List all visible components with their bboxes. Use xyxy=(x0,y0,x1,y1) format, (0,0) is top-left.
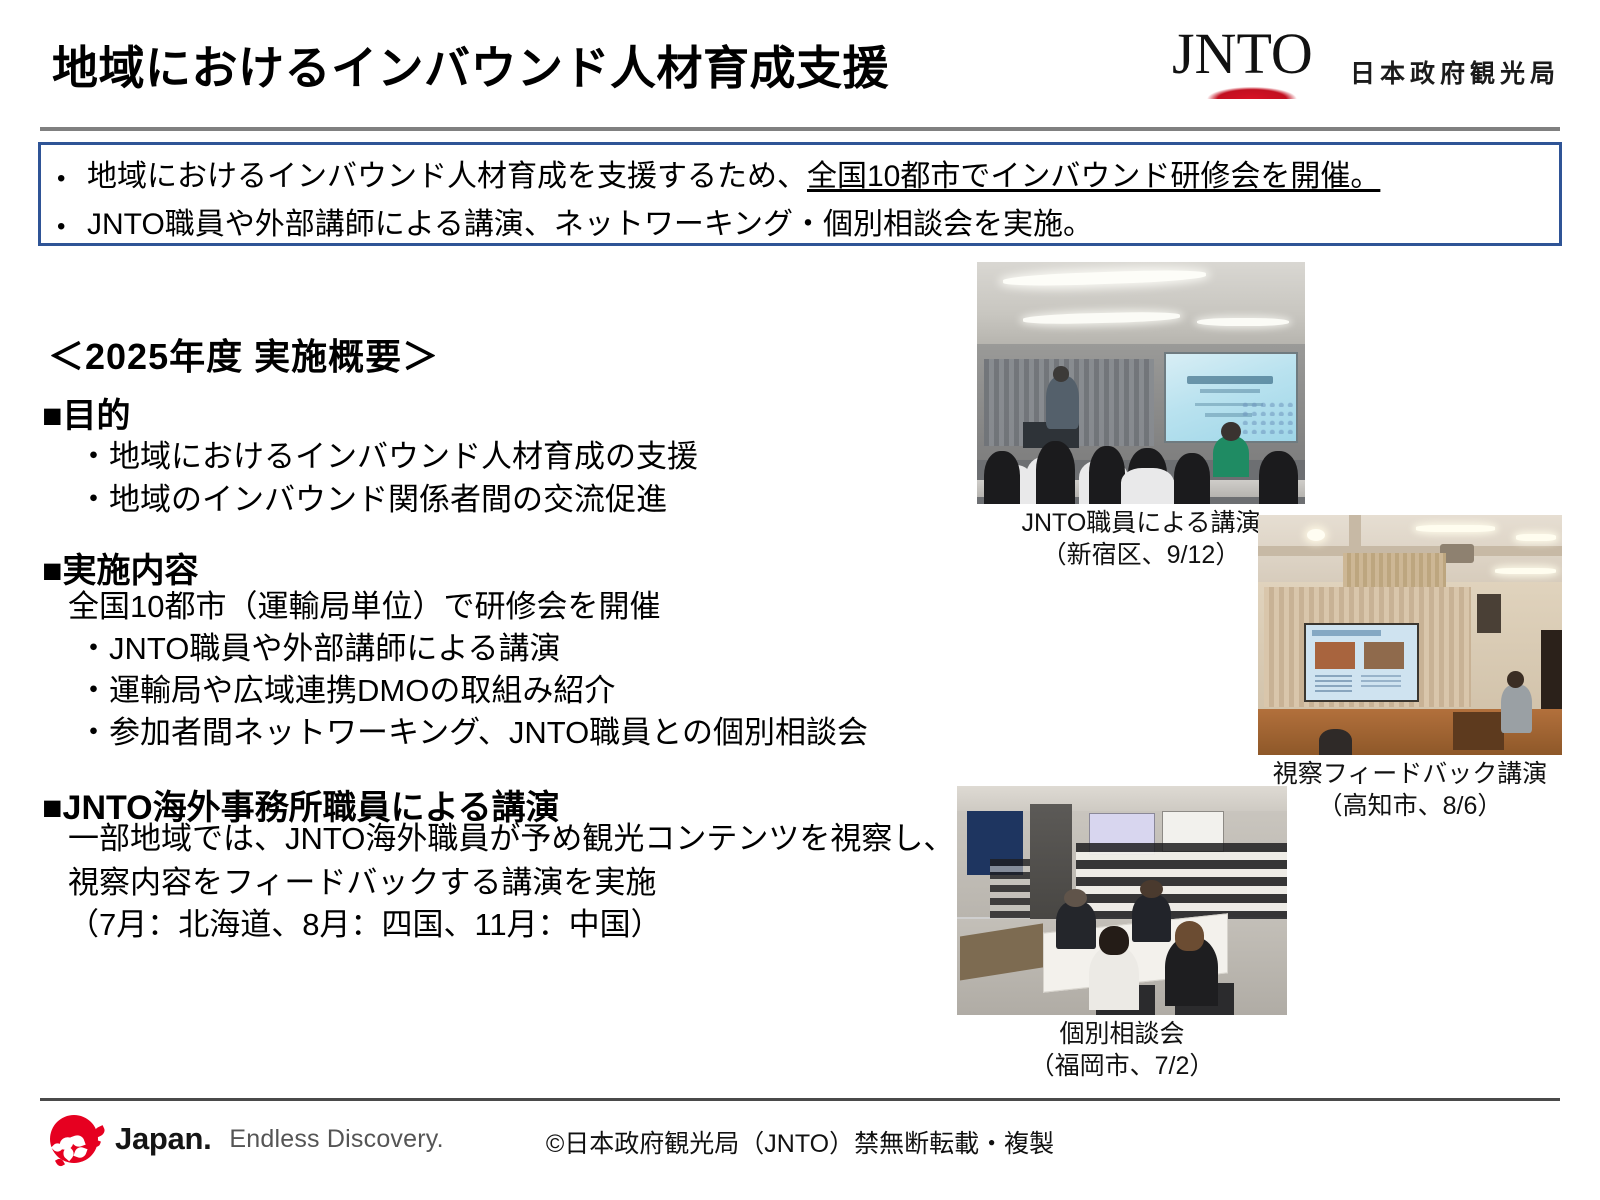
photo2-slide-header xyxy=(1312,630,1381,636)
photo2-lectern xyxy=(1453,712,1505,750)
jnto-logo-mark: JNTO xyxy=(1172,24,1324,110)
slide-root: 地域におけるインバウンド人材育成支援 JNTO 日本政府観光局 • 地域における… xyxy=(0,0,1600,1200)
photo2-slide-image xyxy=(1315,642,1355,669)
consultation-caption: 個別相談会 （福岡市、7/2） xyxy=(922,1018,1322,1082)
photo1-attendee xyxy=(984,451,1020,504)
bullet-icon: • xyxy=(57,204,87,250)
photo2-doorway xyxy=(1541,630,1562,716)
photo1-slide-title-bar xyxy=(1187,376,1273,384)
content-line-3: ・運輸局や広域連携DMOの取組み紹介 xyxy=(78,672,615,711)
photo1-attendee xyxy=(1121,468,1173,504)
photo3-participant-head xyxy=(1099,926,1129,956)
photo1-attendee xyxy=(1089,446,1125,504)
photo3-participant-head xyxy=(1175,921,1205,951)
summary-line-2: • JNTO職員や外部講師による講演、ネットワーキング・個別相談会を実施。 xyxy=(57,202,1543,250)
overseas-line-3: （7月：北海道、8月：四国、11月：中国） xyxy=(68,906,662,945)
fiscal-year-heading: ＜2025年度 実施概要＞ xyxy=(48,328,439,380)
photo2-tube-light xyxy=(1516,534,1556,541)
photo1-attendee-green xyxy=(1213,436,1249,477)
photo3-participant xyxy=(1056,901,1096,949)
content-line-4: ・参加者間ネットワーキング、JNTO職員との個別相談会 xyxy=(78,714,868,753)
photo1-ceiling-light xyxy=(1197,318,1289,326)
photo1-attendee xyxy=(1036,441,1075,504)
overseas-line-1: 一部地域では、JNTO海外職員が予め観光コンテンツを視察し、 xyxy=(68,820,954,859)
photo1-attendee xyxy=(1259,451,1298,504)
photo2-tube-light xyxy=(1416,525,1495,532)
photo3-participant xyxy=(1089,946,1139,1010)
caption-detail: （福岡市、7/2） xyxy=(922,1050,1322,1082)
footer-divider xyxy=(40,1098,1560,1101)
jnto-japanese-name: 日本政府観光局 xyxy=(1350,54,1560,90)
bullet-icon: • xyxy=(57,156,87,202)
purpose-line-1: ・地域におけるインバウンド人材育成の支援 xyxy=(78,438,698,477)
summary-line-2-plain: JNTO職員や外部講師による講演、ネットワーキング・個別相談会を実施。 xyxy=(87,202,1093,248)
photo2-attendee xyxy=(1319,729,1352,755)
page-title: 地域におけるインバウンド人材育成支援 xyxy=(52,32,889,98)
photo1-attendee-green-head xyxy=(1221,422,1241,441)
photo3-empty-seat-rows xyxy=(1076,843,1287,925)
summary-box: • 地域におけるインバウンド人材育成を支援するため、 全国10都市でインバウンド… xyxy=(38,142,1562,246)
header-divider xyxy=(40,127,1560,131)
section-heading-content: ■実施内容 xyxy=(42,543,199,592)
jnto-logo: JNTO 日本政府観光局 xyxy=(1172,24,1560,110)
feedback-lecture-photo xyxy=(1258,515,1562,755)
photo2-speaker-body xyxy=(1501,685,1531,733)
consultation-photo xyxy=(957,786,1287,1015)
photo2-tube-light xyxy=(1495,568,1556,574)
photo2-slide-text xyxy=(1361,675,1401,687)
photo2-speaker-box xyxy=(1477,594,1501,632)
summary-line-1-underlined: 全国10都市でインバウンド研修会を開催。 xyxy=(807,154,1380,200)
content-line-1: 全国10都市（運輸局単位）で研修会を開催 xyxy=(68,588,660,627)
photo1-attendee xyxy=(1174,453,1210,504)
photo1-slide-graphic xyxy=(1239,398,1294,438)
photo3-participant xyxy=(1132,894,1172,942)
section-heading-purpose: ■目的 xyxy=(42,388,131,437)
purpose-line-2: ・地域のインバウンド関係者間の交流促進 xyxy=(78,481,667,520)
caption-title: 個別相談会 xyxy=(922,1018,1322,1050)
summary-line-1: • 地域におけるインバウンド人材育成を支援するため、 全国10都市でインバウンド… xyxy=(57,154,1543,202)
copyright-notice: ©日本政府観光局（JNTO）禁無断転載・複製 xyxy=(0,1124,1600,1160)
photo1-presenter-body xyxy=(1046,376,1079,429)
photo1-slide-subtitle-bar xyxy=(1200,389,1260,393)
summary-line-1-plain: 地域におけるインバウンド人材育成を支援するため、 xyxy=(87,154,807,200)
photo2-slide-image xyxy=(1364,642,1404,669)
content-line-2: ・JNTO職員や外部講師による講演 xyxy=(78,630,560,669)
photo2-slide-text xyxy=(1315,675,1353,693)
jnto-wordmark: JNTO xyxy=(1172,24,1324,84)
photo2-speaker-head xyxy=(1507,671,1524,688)
photo2-projection-screen xyxy=(1304,623,1420,702)
overseas-line-2: 視察内容をフィードバックする講演を実施 xyxy=(68,864,656,903)
seminar-lecture-photo xyxy=(977,262,1305,504)
